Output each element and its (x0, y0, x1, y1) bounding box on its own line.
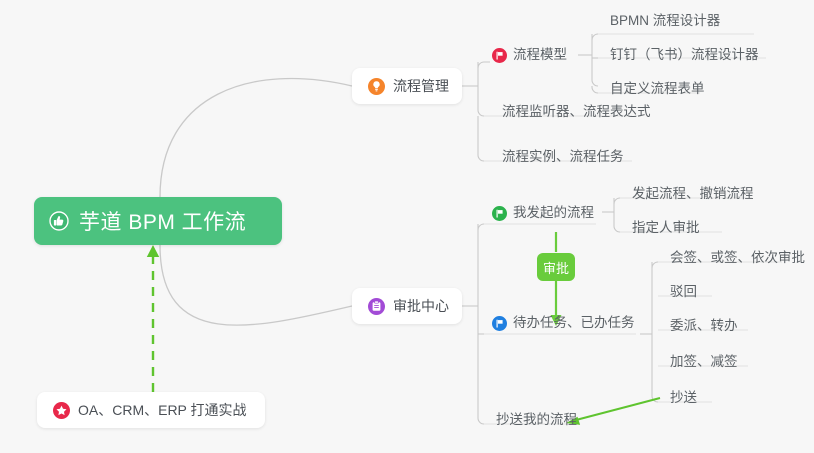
topic-cc-to-me-process-label: 抄送我的流程 (496, 408, 577, 428)
topic-delegate-transfer-label: 委派、转办 (670, 314, 738, 334)
topic-process-listener-expression-label: 流程监听器、流程表达式 (502, 100, 651, 120)
topic-start-cancel-process-label: 发起流程、撤销流程 (632, 182, 754, 202)
topic-my-initiated-process[interactable]: 我发起的流程 (490, 202, 600, 224)
branch-approval-center-label: 审批中心 (393, 296, 449, 316)
topic-todo-done-tasks-label: 待办任务、已办任务 (513, 311, 635, 331)
flag-circle-icon (492, 316, 507, 331)
topic-bpmn-designer-label: BPMN 流程设计器 (610, 9, 720, 29)
topic-assignee-approval-label: 指定人审批 (632, 216, 700, 236)
topic-add-remove-sign[interactable]: 加签、减签 (658, 351, 744, 373)
topic-process-instance-task[interactable]: 流程实例、流程任务 (490, 146, 630, 168)
approval-tag-label: 审批 (543, 258, 569, 277)
approval-tag[interactable]: 审批 (537, 253, 575, 281)
topic-reject-label: 驳回 (670, 280, 697, 300)
topic-my-initiated-process-label: 我发起的流程 (513, 201, 594, 221)
topic-process-instance-task-label: 流程实例、流程任务 (502, 145, 624, 165)
topic-reject[interactable]: 驳回 (658, 281, 703, 303)
topic-process-model-label: 流程模型 (513, 43, 567, 63)
topic-custom-process-form[interactable]: 自定义流程表单 (598, 78, 711, 100)
topic-dingtalk-feishu-designer-label: 钉钉（飞书）流程设计器 (610, 43, 759, 63)
topic-cc[interactable]: 抄送 (658, 387, 703, 409)
card-integration-practice-label: OA、CRM、ERP 打通实战 (78, 400, 247, 420)
topic-bpmn-designer[interactable]: BPMN 流程设计器 (598, 10, 726, 32)
clipboard-circle-icon (368, 298, 385, 315)
topic-process-model[interactable]: 流程模型 (490, 44, 573, 66)
lightbulb-circle-icon (368, 78, 385, 95)
flag-circle-icon (492, 206, 507, 221)
star-circle-icon (53, 402, 70, 419)
mindmap-canvas[interactable]: 芋道 BPM 工作流 流程管理 流程模型 BPMN 流程设计器 钉钉（飞书）流 (0, 0, 814, 453)
topic-start-cancel-process[interactable]: 发起流程、撤销流程 (620, 183, 760, 205)
topic-custom-process-form-label: 自定义流程表单 (610, 77, 705, 97)
topic-process-listener-expression[interactable]: 流程监听器、流程表达式 (490, 101, 657, 123)
root-label: 芋道 BPM 工作流 (79, 206, 246, 236)
flag-circle-icon (492, 48, 507, 63)
card-integration-practice[interactable]: OA、CRM、ERP 打通实战 (37, 392, 265, 428)
topic-countersign-orsign-sequential[interactable]: 会签、或签、依次审批 (658, 247, 811, 269)
topic-assignee-approval[interactable]: 指定人审批 (620, 217, 706, 239)
branch-process-management[interactable]: 流程管理 (352, 68, 462, 104)
topic-cc-label: 抄送 (670, 386, 697, 406)
topic-cc-to-me-process[interactable]: 抄送我的流程 (484, 409, 583, 431)
thumbs-up-circle-icon (48, 210, 70, 232)
root-node[interactable]: 芋道 BPM 工作流 (34, 197, 282, 245)
topic-delegate-transfer[interactable]: 委派、转办 (658, 315, 744, 337)
topic-countersign-orsign-sequential-label: 会签、或签、依次审批 (670, 246, 805, 266)
topic-add-remove-sign-label: 加签、减签 (670, 350, 738, 370)
topic-dingtalk-feishu-designer[interactable]: 钉钉（飞书）流程设计器 (598, 44, 765, 66)
branch-process-management-label: 流程管理 (393, 76, 449, 96)
branch-approval-center[interactable]: 审批中心 (352, 288, 462, 324)
topic-todo-done-tasks[interactable]: 待办任务、已办任务 (490, 312, 641, 334)
